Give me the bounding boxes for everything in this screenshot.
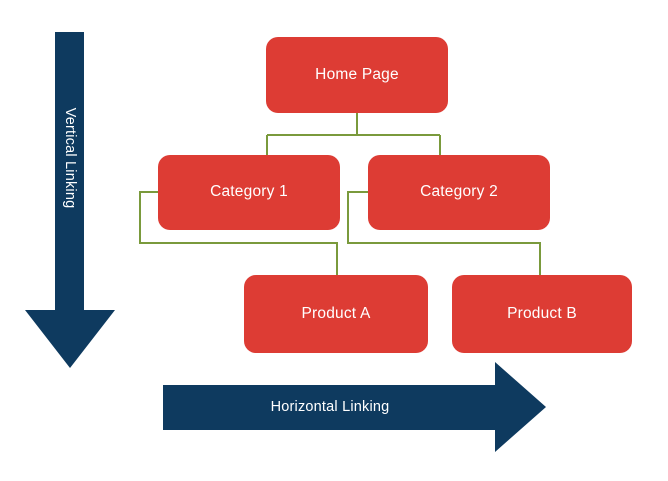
node-category-2[interactable]: Category 2 <box>368 155 550 230</box>
node-product-a-label: Product A <box>301 305 370 324</box>
node-product-b[interactable]: Product B <box>452 275 632 353</box>
node-category-1[interactable]: Category 1 <box>158 155 340 230</box>
node-product-b-label: Product B <box>507 305 577 324</box>
node-home-page-label: Home Page <box>315 66 399 85</box>
vertical-linking-arrow-label: Vertical Linking <box>62 88 78 228</box>
diagram-canvas: Home Page Category 1 Category 2 Product … <box>0 0 668 481</box>
node-category-1-label: Category 1 <box>210 183 288 202</box>
node-product-a[interactable]: Product A <box>244 275 428 353</box>
horizontal-linking-arrow-label: Horizontal Linking <box>162 399 498 415</box>
node-home-page[interactable]: Home Page <box>266 37 448 113</box>
node-category-2-label: Category 2 <box>420 183 498 202</box>
